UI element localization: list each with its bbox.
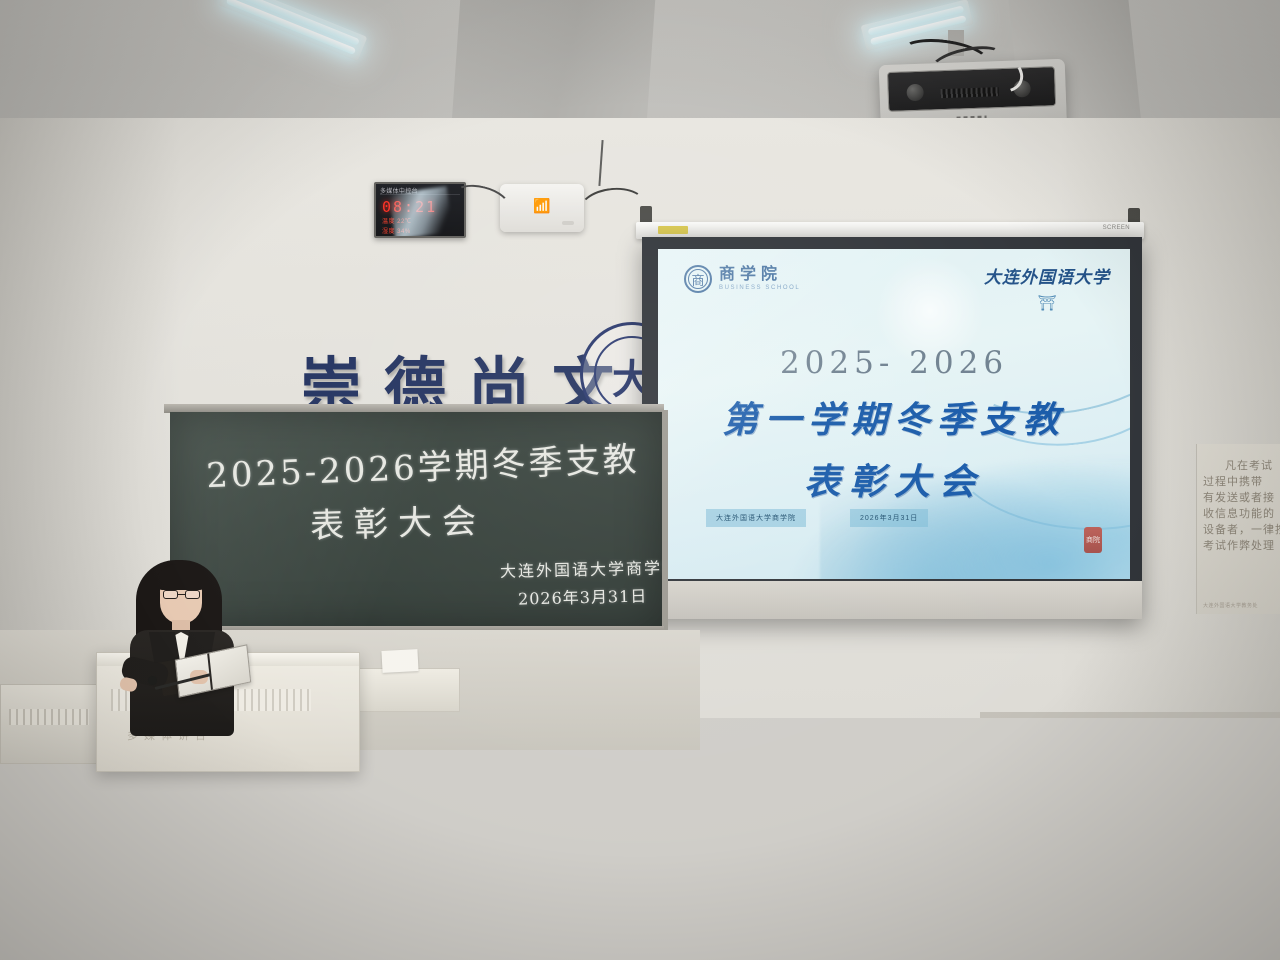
blackboard-line-3: 大连外国语大学商学院 [500,554,662,582]
poster-line: 设备者，一律按 [1203,522,1276,538]
university-name-cn: 大连外国语大学 [984,263,1110,288]
projected-slide: 商 商学院 BUSINESS SCHOOL 大连外国语大学 ⛩ 2025- 20… [658,249,1130,579]
presenter-fringe [156,564,206,590]
poster-line: 凡在考试 [1203,458,1276,474]
badge-glyph: 商 [688,269,708,289]
school-name-en: BUSINESS SCHOOL [719,285,800,291]
slide-red-seal: 商院 [1084,527,1102,553]
blackboard-line-2: 表彰大会 [309,494,486,548]
glasses-bridge [178,594,185,595]
poster-line: 收信息功能的 [1203,506,1276,522]
poster-line: 考试作弊处理 [1203,538,1276,554]
screen-bottom-bar [642,581,1142,619]
ap-status-led [562,221,574,225]
glasses-icon [163,590,200,599]
poster-footer: 大连外国语大学教务处 [1203,602,1258,609]
slide-university-logo: 大连外国语大学 ⛩ [984,263,1110,312]
slide-school-logo: 商 商学院 BUSINESS SCHOOL [684,265,800,293]
school-badge-icon: 商 [684,265,712,293]
glasses-lens [163,590,178,599]
poster-line: 有发送或者接 [1203,490,1276,506]
screen-brand-label: SCREEN [1103,225,1130,231]
school-name-cn: 商学院 [719,266,800,283]
wifi-icon: 📶 [533,198,550,215]
slide-title-line2: 表彰大会 [658,453,1130,505]
school-name-block: 商学院 BUSINESS SCHOOL [719,266,800,291]
poster-line: 过程中携带 [1203,474,1276,490]
projector-lens-icon [906,84,924,102]
screen-label-sticker [658,226,688,234]
slide-year-range: 2025- 2026 [658,345,1130,381]
led-panel-glare [389,186,453,238]
glasses-lens [185,590,200,599]
exam-rules-poster: 凡在考试 过程中携带 有发送或者接 收信息功能的 设备者，一律按 考试作弊处理 … [1196,444,1280,614]
audience-area: 荣誉证书 荣誉证书 [0,660,1280,960]
slide-organizer-tag: 大连外国语大学商学院 [706,509,806,527]
blackboard-right-edge [662,410,668,632]
blackboard-line-4: 2026年3月31日 [518,582,648,609]
wireless-access-point: 📶 [500,184,584,232]
slide-title-line1: 第一学期冬季支教 [658,391,1130,443]
projection-screen: 商 商学院 BUSINESS SCHOOL 大连外国语大学 ⛩ 2025- 20… [642,237,1142,619]
led-control-panel[interactable]: 多媒体中控台 08:21 温度 22℃ 湿度 34% [374,182,466,238]
classroom-photo-scene: 崇德尚文 大 多媒体中控台 08:21 温度 22℃ 湿度 34% 📶 SCRE… [0,0,1280,960]
slide-wave-wash [778,493,1018,579]
pavilion-icon: ⛩ [984,294,1110,312]
slide-date-tag: 2026年3月31日 [850,509,928,527]
slide-content: 商 商学院 BUSINESS SCHOOL 大连外国语大学 ⛩ 2025- 20… [658,249,1130,579]
slide-title: 第一学期冬季支教 表彰大会 [658,391,1130,505]
